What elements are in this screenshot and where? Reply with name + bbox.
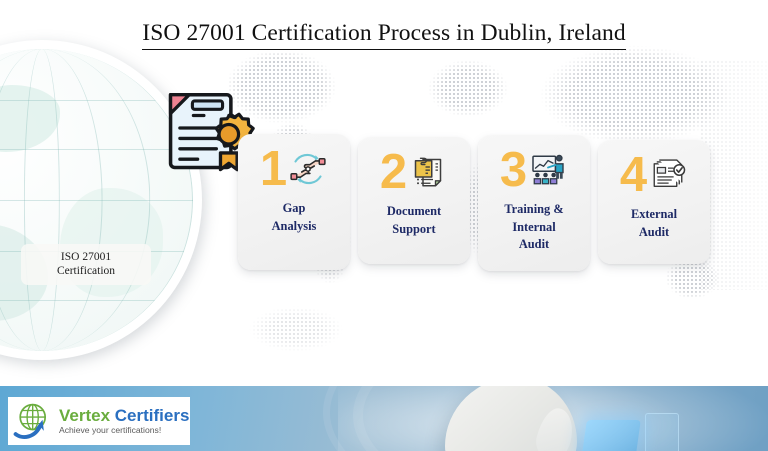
globe-parallel-5 [0, 300, 193, 301]
map-region-lower-left [236, 300, 356, 358]
documents-clipboard-icon [408, 152, 448, 192]
certification-label: ISO 27001 Certification [21, 244, 151, 285]
step-card-training-internal-audit[interactable]: 3 [478, 135, 590, 271]
step-card-header: 3 [484, 142, 584, 198]
step-card-label: External Audit [604, 206, 704, 241]
logo-text: Vertex Certifiers Achieve your certifica… [59, 407, 189, 436]
screen-panel-outline [645, 413, 679, 451]
step-label-line2: Support [364, 221, 464, 239]
step-card-header: 1 [244, 141, 344, 197]
step-card-label: Document Support [364, 203, 464, 238]
step-card-label: Gap Analysis [244, 200, 344, 235]
step-label-line1: Training & [484, 201, 584, 219]
brand-name: Vertex Certifiers [59, 407, 189, 425]
brand-word-certifiers: Certifiers [115, 406, 190, 425]
map-region-europe [420, 56, 516, 128]
company-logo[interactable]: Vertex Certifiers Achieve your certifica… [8, 397, 190, 445]
step-label-line2: Internal [484, 219, 584, 237]
step-label-line1: Document [364, 203, 464, 221]
step-card-header: 2 [364, 144, 464, 200]
step-number: 3 [500, 148, 526, 192]
brand-tagline: Achieve your certifications! [59, 425, 189, 436]
step-number: 1 [260, 147, 286, 191]
audit-documents-check-icon [648, 155, 688, 195]
brand-word-vertex: Vertex [59, 406, 110, 425]
certification-label-line1: ISO 27001 [61, 251, 111, 263]
step-label-line2: Audit [604, 224, 704, 242]
step-label-line3: Audit [484, 236, 584, 254]
page-title-text: ISO 27001 Certification Process in Dubli… [142, 20, 625, 50]
infographic-canvas: ISO 27001 Certification Process in Dubli… [0, 0, 768, 451]
step-number: 4 [620, 153, 646, 197]
step-card-label: Training & Internal Audit [484, 201, 584, 254]
step-number: 2 [380, 150, 406, 194]
step-label-line1: Gap [244, 200, 344, 218]
certification-label-line2: Certification [27, 264, 145, 278]
step-label-line1: External [604, 206, 704, 224]
page-title: ISO 27001 Certification Process in Dubli… [0, 20, 768, 50]
handshake-icon [288, 149, 328, 189]
step-card-document-support[interactable]: 2 [358, 137, 470, 264]
screen-glow [581, 420, 641, 451]
step-card-gap-analysis[interactable]: 1 [238, 134, 350, 270]
training-presentation-icon [528, 150, 568, 190]
footer-banner: Vertex Certifiers Achieve your certifica… [0, 386, 768, 451]
vertex-globe-arrow-logo-icon [13, 400, 55, 442]
step-card-header: 4 [604, 147, 704, 203]
globe-parallel-3 [0, 200, 193, 201]
step-label-line2: Analysis [244, 218, 344, 236]
step-card-external-audit[interactable]: 4 [598, 140, 710, 264]
process-steps: 1 [238, 134, 748, 276]
